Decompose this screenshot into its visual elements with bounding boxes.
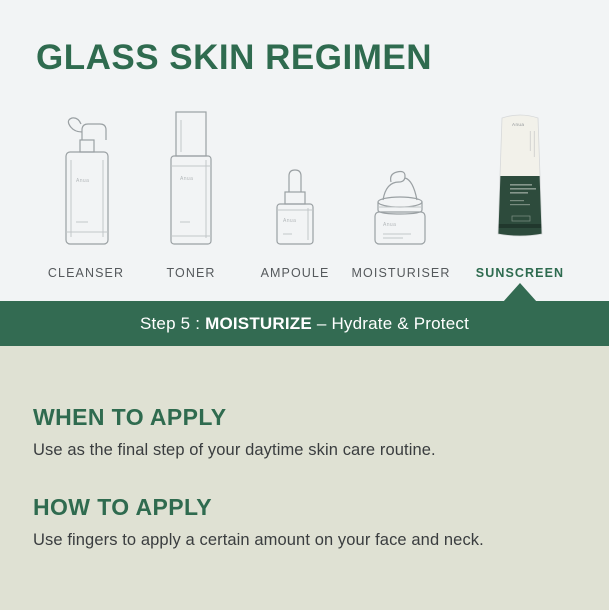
svg-text:Anua: Anua: [383, 222, 396, 228]
svg-text:Anua: Anua: [76, 178, 89, 184]
svg-text:Anua: Anua: [180, 176, 193, 182]
how-to-apply-body: Use fingers to apply a certain amount on…: [33, 531, 484, 550]
step-prefix: Step 5 :: [140, 314, 205, 333]
bottom-section: WHEN TO APPLY Use as the final step of y…: [0, 346, 609, 610]
product-label-toner: TONER: [131, 266, 251, 280]
step-keyword: MOISTURIZE: [205, 314, 312, 333]
regimen-step-toner[interactable]: Anua TONER: [143, 100, 239, 280]
page-title: GLASS SKIN REGIMEN: [36, 38, 432, 78]
step-suffix: – Hydrate & Protect: [312, 314, 469, 333]
sunscreen-illustration: Anua: [472, 104, 568, 252]
step-banner-text: Step 5 : MOISTURIZE – Hydrate & Protect: [140, 314, 469, 334]
regimen-step-moisturiser[interactable]: Anua MOISTURISER: [353, 100, 449, 280]
svg-text:Anua: Anua: [512, 122, 524, 127]
how-to-apply-block: HOW TO APPLY Use fingers to apply a cert…: [33, 494, 484, 550]
regimen-step-sunscreen[interactable]: Anua: [472, 100, 568, 280]
toner-illustration: Anua: [143, 104, 239, 252]
regimen-product-row: Anua CLEANSER › Anua: [0, 100, 609, 280]
when-to-apply-heading: WHEN TO APPLY: [33, 404, 436, 431]
svg-text:Anua: Anua: [283, 218, 296, 224]
product-label-ampoule: AMPOULE: [235, 266, 355, 280]
top-section: GLASS SKIN REGIMEN Anua: [0, 0, 609, 300]
regimen-step-cleanser[interactable]: Anua CLEANSER: [38, 100, 134, 280]
when-to-apply-body: Use as the final step of your daytime sk…: [33, 441, 436, 460]
when-to-apply-block: WHEN TO APPLY Use as the final step of y…: [33, 404, 436, 460]
product-label-moisturiser: MOISTURISER: [341, 266, 461, 280]
banner-pointer-triangle: [503, 283, 537, 302]
cleanser-illustration: Anua: [38, 104, 134, 252]
step-banner: Step 5 : MOISTURIZE – Hydrate & Protect: [0, 301, 609, 346]
infographic-page: GLASS SKIN REGIMEN Anua: [0, 0, 609, 610]
product-label-cleanser: CLEANSER: [26, 266, 146, 280]
moisturiser-illustration: Anua: [353, 104, 449, 252]
product-label-sunscreen: SUNSCREEN: [460, 266, 580, 280]
regimen-step-ampoule[interactable]: Anua AMPOULE: [247, 100, 343, 280]
ampoule-illustration: Anua: [247, 104, 343, 252]
how-to-apply-heading: HOW TO APPLY: [33, 494, 484, 521]
